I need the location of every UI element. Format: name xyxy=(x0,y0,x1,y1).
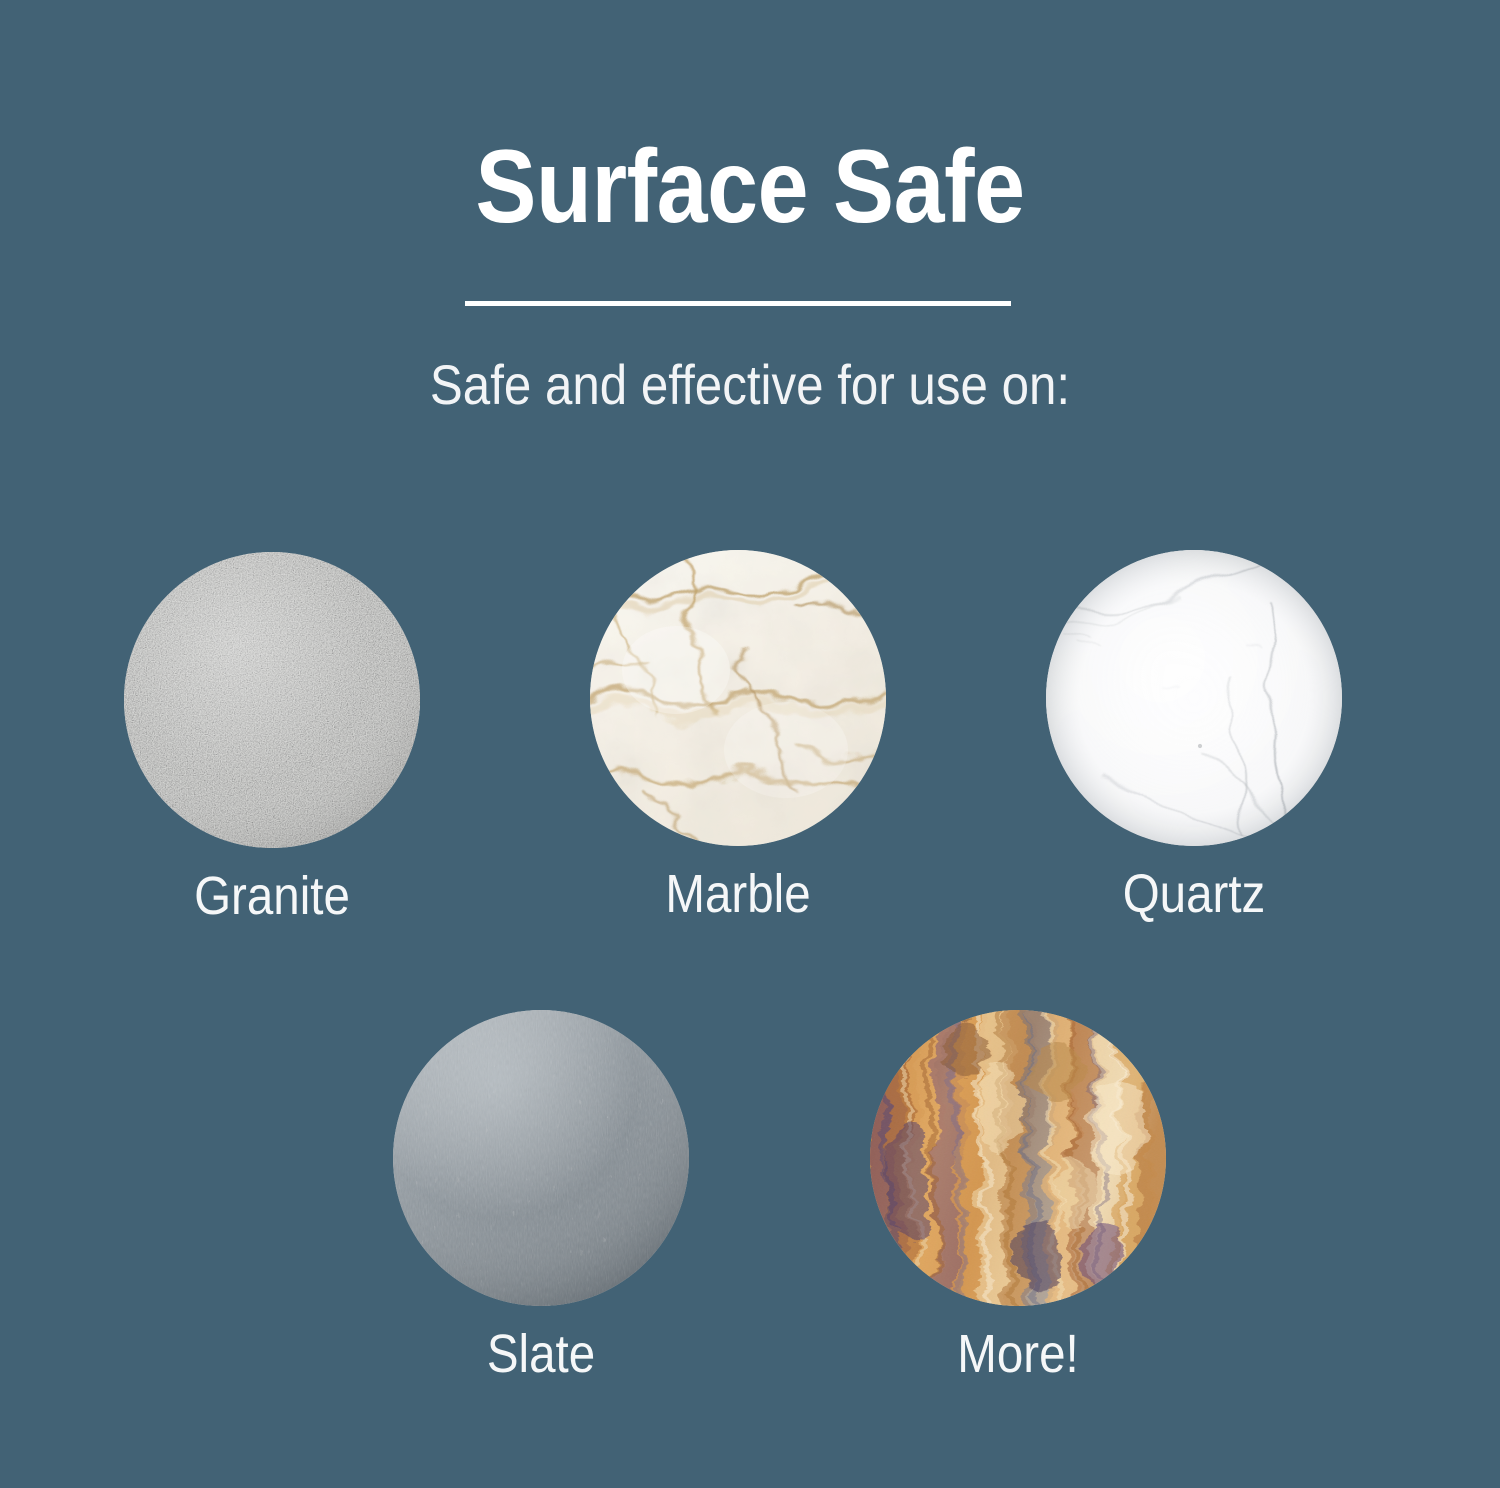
marble-swatch xyxy=(590,550,886,846)
quartz-swatch xyxy=(1046,550,1342,846)
slate-swatch xyxy=(393,1010,689,1306)
surface-label-slate: Slate xyxy=(400,1324,682,1384)
surface-label-granite: Granite xyxy=(131,866,413,926)
surface-safe-infographic: Surface Safe Safe and effective for use … xyxy=(0,0,1500,1488)
surface-label-quartz: Quartz xyxy=(1053,864,1335,924)
more-swatch xyxy=(870,1010,1166,1306)
surface-item-granite: Granite xyxy=(112,552,432,926)
surface-label-more: More! xyxy=(877,1324,1159,1384)
surface-item-marble: Marble xyxy=(578,550,898,924)
surface-item-quartz: Quartz xyxy=(1034,550,1354,924)
granite-swatch xyxy=(124,552,420,848)
surface-label-marble: Marble xyxy=(597,864,879,924)
surface-item-slate: Slate xyxy=(381,1010,701,1384)
surface-item-more: More! xyxy=(858,1010,1178,1384)
surface-grid: Granite xyxy=(0,0,1500,1488)
